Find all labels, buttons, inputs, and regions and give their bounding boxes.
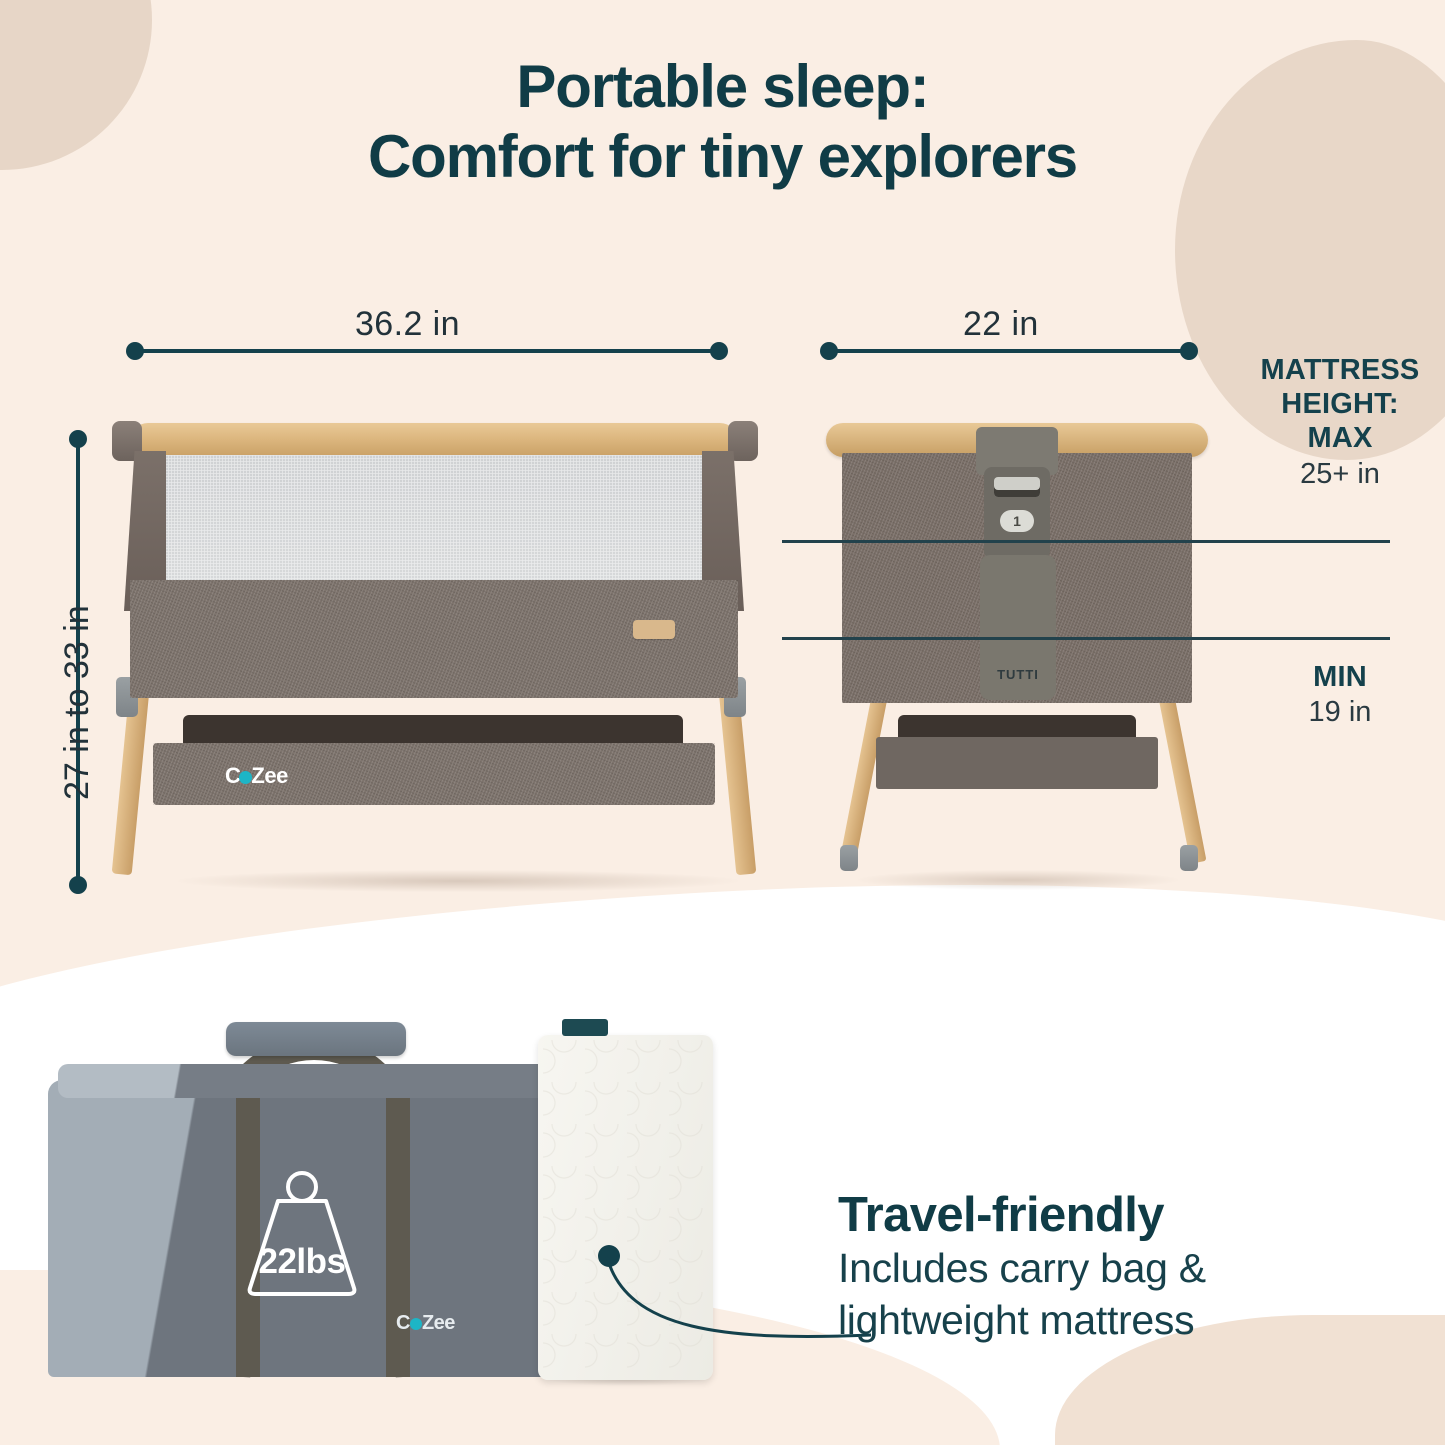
travel-friendly-title: Travel-friendly <box>838 1190 1398 1241</box>
crib-end-storage <box>876 715 1158 793</box>
depth-dimension-dot-right <box>1180 342 1198 360</box>
weight-icon: 22lbs <box>228 1170 376 1298</box>
mattress-min-reference-line <box>782 637 1390 640</box>
crib-storage-shelf: CZee <box>153 715 715 807</box>
mattress-height-title-2: HEIGHT: <box>1240 387 1440 421</box>
page-title-line-1: Portable sleep: <box>516 53 928 120</box>
depth-dimension-label: 22 in <box>963 305 1039 344</box>
mattress-height-min-annotation: MIN 19 in <box>1240 660 1440 730</box>
carry-bag-grip <box>226 1022 406 1056</box>
carry-bag-brand-logo: CZee <box>396 1312 455 1335</box>
crib-end-view: 1 TUTTI <box>818 415 1218 895</box>
page-title-line-2: Comfort for tiny explorers <box>0 122 1445 192</box>
height-dimension-label: 27 in to 33 in <box>58 605 97 800</box>
crib-brand-logo: CZee <box>225 763 288 789</box>
travel-friendly-sub-line-1: Includes carry bag & <box>838 1245 1398 1293</box>
crib-front-view: CZee <box>108 415 788 895</box>
width-dimension-dot-right <box>710 342 728 360</box>
height-dimension-dot-top <box>69 430 87 448</box>
crib-top-rail <box>130 423 738 459</box>
brand-logo-dot <box>239 771 252 784</box>
crib-mesh-panel <box>144 455 724 585</box>
mattress-height-min-label: MIN <box>1240 660 1440 694</box>
carry-bag-strap-front-right <box>386 1098 410 1377</box>
weight-value: 22lbs <box>228 1242 376 1282</box>
crib-end-shadow <box>858 870 1178 890</box>
mattress-max-reference-line <box>782 540 1390 543</box>
mattress-height-title-1: MATTRESS <box>1240 353 1440 387</box>
mattress-height-max-annotation: MATTRESS HEIGHT: MAX 25+ in <box>1240 353 1440 492</box>
crib-end-storage-band <box>876 737 1158 789</box>
maker-brand-logo: TUTTI <box>986 667 1050 682</box>
crib-end-foot-right <box>1180 845 1198 871</box>
travel-friendly-sub-line-2: lightweight mattress <box>838 1297 1398 1345</box>
crib-fabric-body <box>130 580 738 698</box>
depth-dimension-line <box>827 349 1189 353</box>
crib-end-foot-left <box>840 845 858 871</box>
width-dimension-line <box>133 349 719 353</box>
crib-shadow <box>178 870 738 892</box>
height-dimension-dot-bottom <box>69 876 87 894</box>
mattress-brand-tag <box>562 1019 608 1036</box>
width-dimension-label: 36.2 in <box>355 305 460 344</box>
crib-fabric-texture <box>130 580 738 698</box>
crib-mesh-texture <box>144 455 724 585</box>
carry-bag: 22lbs CZee <box>48 1022 568 1377</box>
page-title: Portable sleep: Comfort for tiny explore… <box>0 52 1445 191</box>
crib-leather-tag <box>633 620 675 639</box>
width-dimension-dot-left <box>126 342 144 360</box>
mattress-height-max-label: MAX <box>1240 421 1440 455</box>
height-adjuster-slot <box>994 477 1040 497</box>
mattress-callout-leader-line <box>575 1213 875 1348</box>
mattress-height-max-value: 25+ in <box>1240 456 1440 492</box>
carry-bag-logo-dot <box>410 1318 422 1330</box>
depth-dimension-dot-left <box>820 342 838 360</box>
travel-friendly-callout: Travel-friendly Includes carry bag & lig… <box>838 1190 1398 1345</box>
carry-bag-top-edge <box>58 1064 558 1098</box>
mattress-height-min-value: 19 in <box>1240 694 1440 730</box>
height-adjuster-marker: 1 <box>1000 510 1034 532</box>
infographic-canvas: Portable sleep: Comfort for tiny explore… <box>0 0 1445 1445</box>
